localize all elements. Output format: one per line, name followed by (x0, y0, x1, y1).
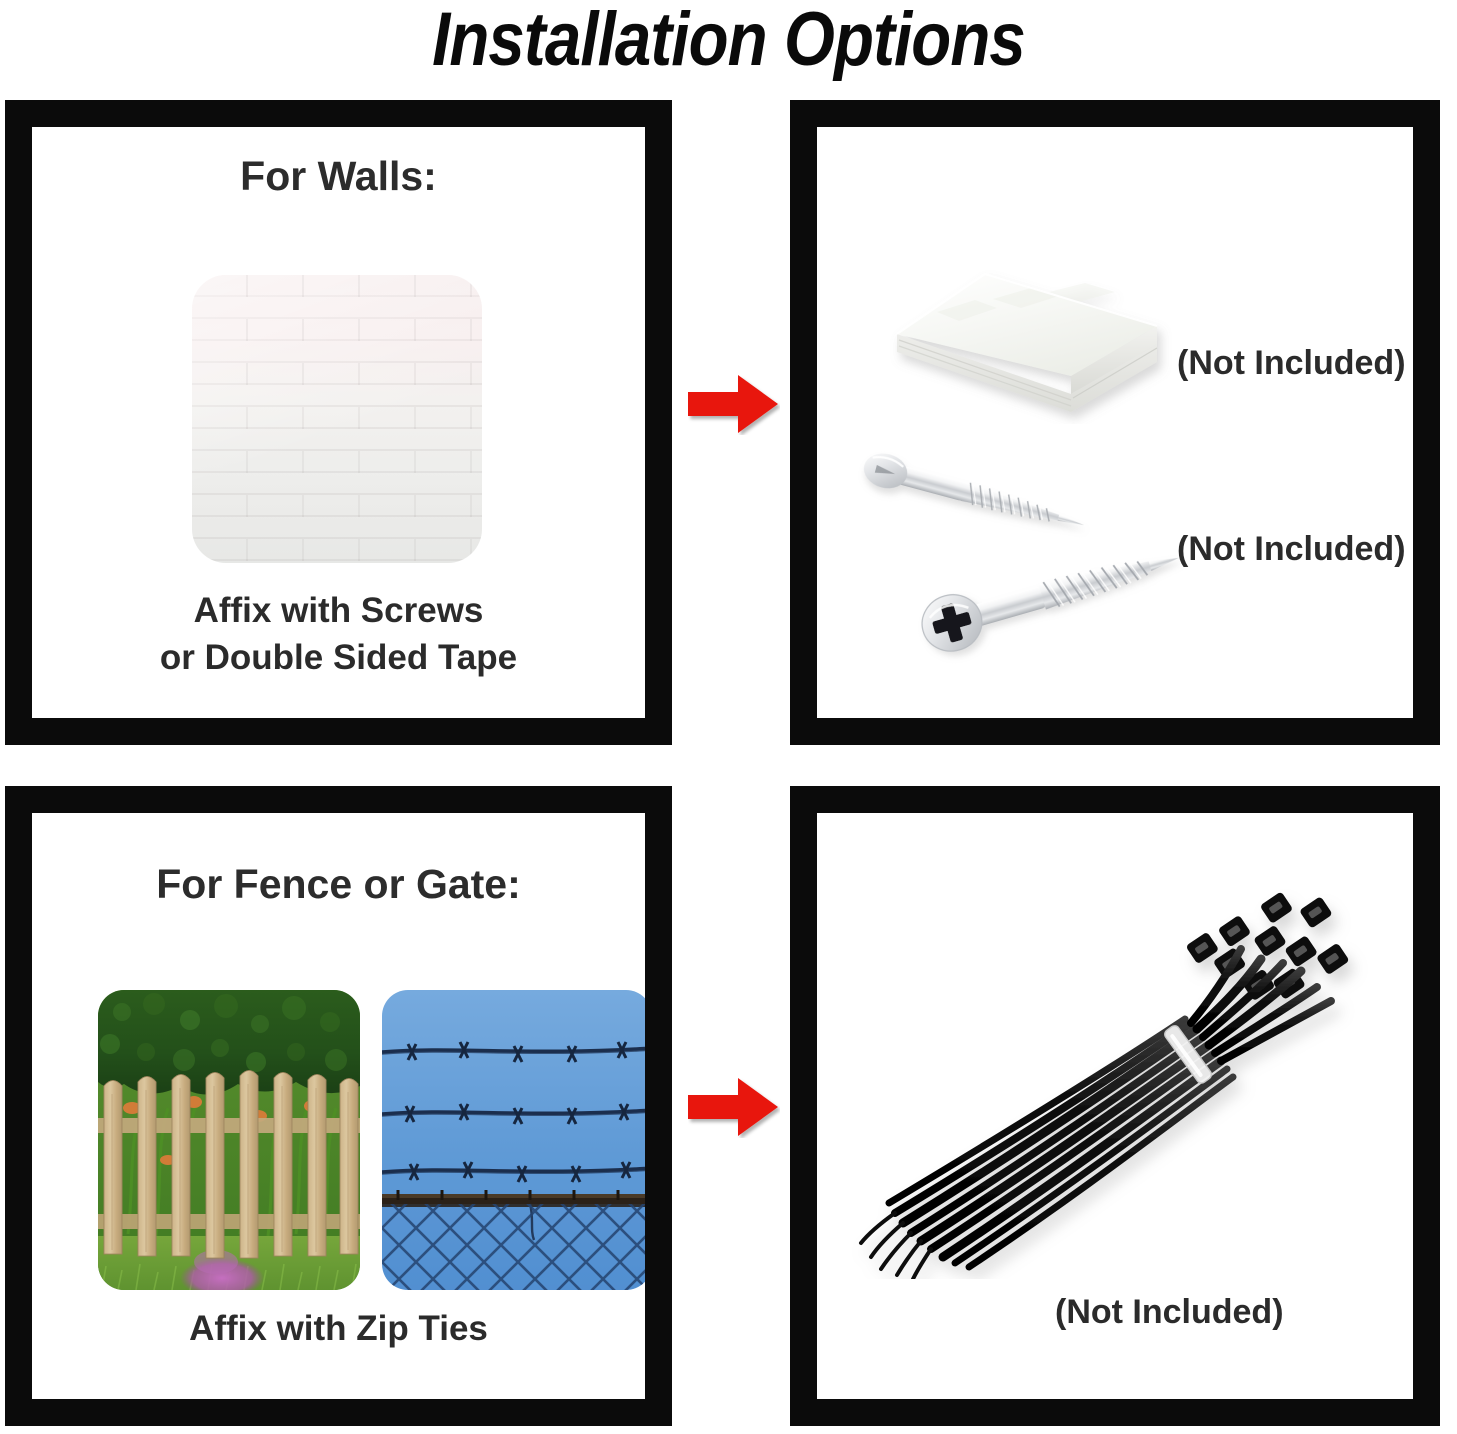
panel-wall-hardware: (Not Included) (790, 100, 1440, 745)
arrow-right-icon (688, 373, 780, 435)
for-fence-caption-line-1: Affix with Zip Ties (32, 1306, 645, 1353)
arrow-right-icon (688, 1076, 780, 1138)
wood-screws-image (839, 447, 1189, 677)
page-title: Installation Options (102, 2, 1355, 78)
for-walls-heading: For Walls: (32, 153, 645, 200)
double-sided-tape-stack-image (889, 252, 1185, 424)
white-brick-wall-image (192, 275, 482, 563)
brick-sheen-overlay (192, 275, 482, 563)
panel-for-walls: For Walls: Affix with Screws or Double S… (5, 100, 672, 745)
chain-link-barbed-wire-image (382, 990, 645, 1290)
panel-zip-ties-content: (Not Included) (817, 813, 1413, 1399)
tape-not-included-label: (Not Included) (1177, 344, 1406, 383)
for-fence-or-gate-heading: For Fence or Gate: (32, 861, 645, 908)
panel-for-walls-content: For Walls: Affix with Screws or Double S… (32, 127, 645, 718)
zip-ties-not-included-label: (Not Included) (1055, 1293, 1284, 1332)
panel-wall-hardware-content: (Not Included) (817, 127, 1413, 718)
for-fence-caption: Affix with Zip Ties (32, 1306, 645, 1353)
wooden-picket-fence-image (98, 990, 360, 1290)
for-walls-caption-line-1: Affix with Screws (32, 588, 645, 635)
panel-for-fence-or-gate: For Fence or Gate: (5, 786, 672, 1426)
panel-zip-ties: (Not Included) (790, 786, 1440, 1426)
black-zip-tie-bundle-image (845, 879, 1405, 1279)
screws-not-included-label: (Not Included) (1177, 530, 1406, 569)
for-walls-caption: Affix with Screws or Double Sided Tape (32, 588, 645, 682)
panel-for-fence-or-gate-content: For Fence or Gate: (32, 813, 645, 1399)
for-walls-caption-line-2: or Double Sided Tape (32, 635, 645, 682)
